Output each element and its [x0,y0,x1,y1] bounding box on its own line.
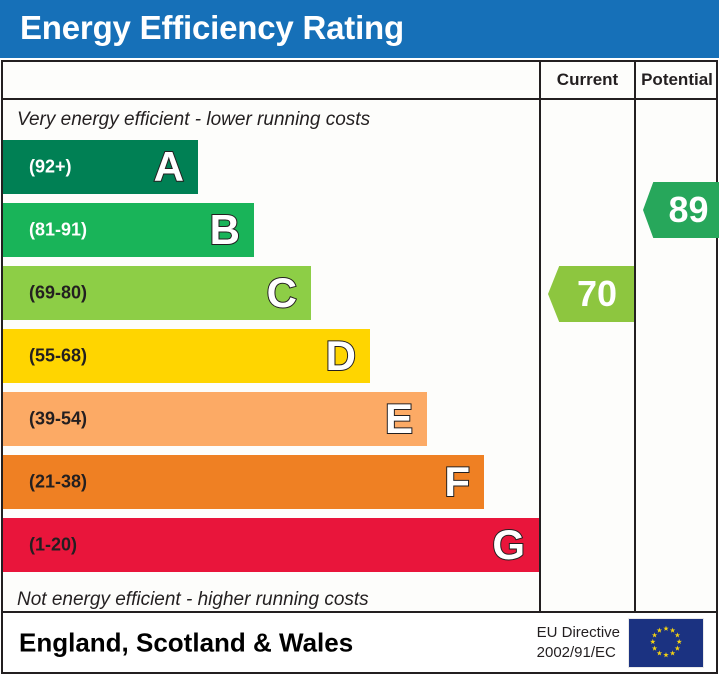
band-letter-g: G [492,524,525,566]
band-row-b: (81-91) B [3,203,254,257]
current-rating-badge: 70 [548,266,634,322]
column-divider-current [539,100,541,611]
band-letter-d: D [326,335,356,377]
current-rating-value: 70 [565,276,617,312]
band-letter-b: B [210,209,240,251]
title-banner: Energy Efficiency Rating [0,0,719,58]
eu-directive-text: EU Directive 2002/91/EC [537,622,620,663]
energy-efficiency-certificate: Energy Efficiency Rating Current Potenti… [0,0,719,675]
band-letter-f: F [444,461,470,503]
eu-flag-icon [628,618,704,668]
caption-efficient: Very energy efficient - lower running co… [17,109,370,131]
eu-directive-line1: EU Directive [537,622,620,642]
band-row-c: (69-80) C [3,266,311,320]
column-header-current: Current [539,62,634,98]
band-range-g: (1-20) [29,535,77,556]
caption-inefficient: Not energy efficient - higher running co… [17,589,369,611]
column-header-potential: Potential [634,62,718,98]
band-letter-a: A [154,146,184,188]
rating-table: Current Potential Very energy efficient … [1,60,718,613]
band-range-c: (69-80) [29,283,87,304]
eu-directive-line2: 2002/91/EC [537,643,620,663]
potential-rating-badge: 89 [643,182,719,238]
potential-rating-value: 89 [656,192,708,228]
band-row-g: (1-20) G [3,518,539,572]
band-range-d: (55-68) [29,346,87,367]
column-divider-potential [634,100,636,611]
band-row-d: (55-68) D [3,329,370,383]
page-title: Energy Efficiency Rating [20,9,404,47]
band-range-a: (92+) [29,157,72,178]
band-letter-c: C [267,272,297,314]
band-bars: (92+) A (81-91) B (69-80) C (55-68) D (3… [3,140,539,581]
band-range-b: (81-91) [29,220,87,241]
band-letter-e: E [385,398,413,440]
footer-bar: England, Scotland & Wales EU Directive 2… [1,613,718,674]
band-range-f: (21-38) [29,472,87,493]
footer-region-label: England, Scotland & Wales [19,627,353,658]
band-row-f: (21-38) F [3,455,484,509]
band-row-e: (39-54) E [3,392,427,446]
band-range-e: (39-54) [29,409,87,430]
column-header-row: Current Potential [3,62,716,100]
band-row-a: (92+) A [3,140,198,194]
